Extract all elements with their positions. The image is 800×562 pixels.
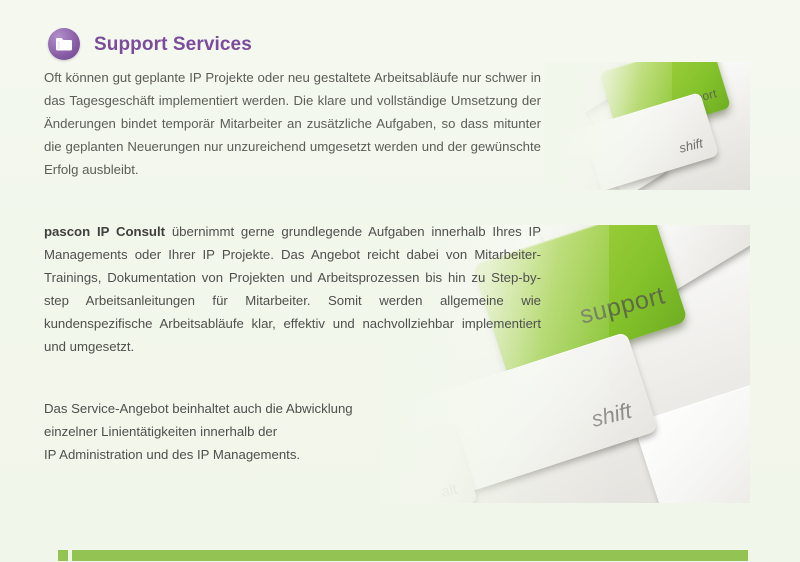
- keycap-support-main-label: support: [577, 281, 668, 330]
- page-canvas: support shift alt / \ support shift alt: [0, 0, 800, 562]
- closing-line-2: einzelner Linientätigkeiten innerhalb de…: [44, 420, 484, 443]
- keycap-shift-label: shift: [678, 135, 705, 155]
- body-paragraph: pascon IP Consult übernimmt gerne grundl…: [44, 220, 541, 358]
- footer-rule-bar: [72, 550, 748, 561]
- footer-rule-tick: [58, 550, 68, 561]
- keycap-alt-label: alt: [578, 189, 591, 190]
- keyboard-thumbnail-image: support shift alt: [545, 62, 750, 190]
- folder-icon: [48, 28, 80, 60]
- closing-line-1: Das Service-Angebot beinhaltet auch die …: [44, 397, 484, 420]
- body-lead-text: pascon IP Consult: [44, 224, 165, 239]
- keycap-shift-main-label: shift: [588, 398, 633, 433]
- closing-line-3: IP Administration und des IP Managements…: [44, 443, 484, 466]
- keycap-alt-main-label: alt: [440, 481, 459, 501]
- intro-paragraph: Oft können gut geplante IP Projekte oder…: [44, 66, 541, 181]
- body-paragraph-text: übernimmt gerne grundlegende Aufgaben in…: [44, 224, 541, 354]
- page-title: Support Services: [94, 35, 252, 54]
- closing-paragraph: Das Service-Angebot beinhaltet auch die …: [44, 397, 484, 466]
- section-header: Support Services: [48, 28, 252, 60]
- footer-rule: [0, 550, 800, 562]
